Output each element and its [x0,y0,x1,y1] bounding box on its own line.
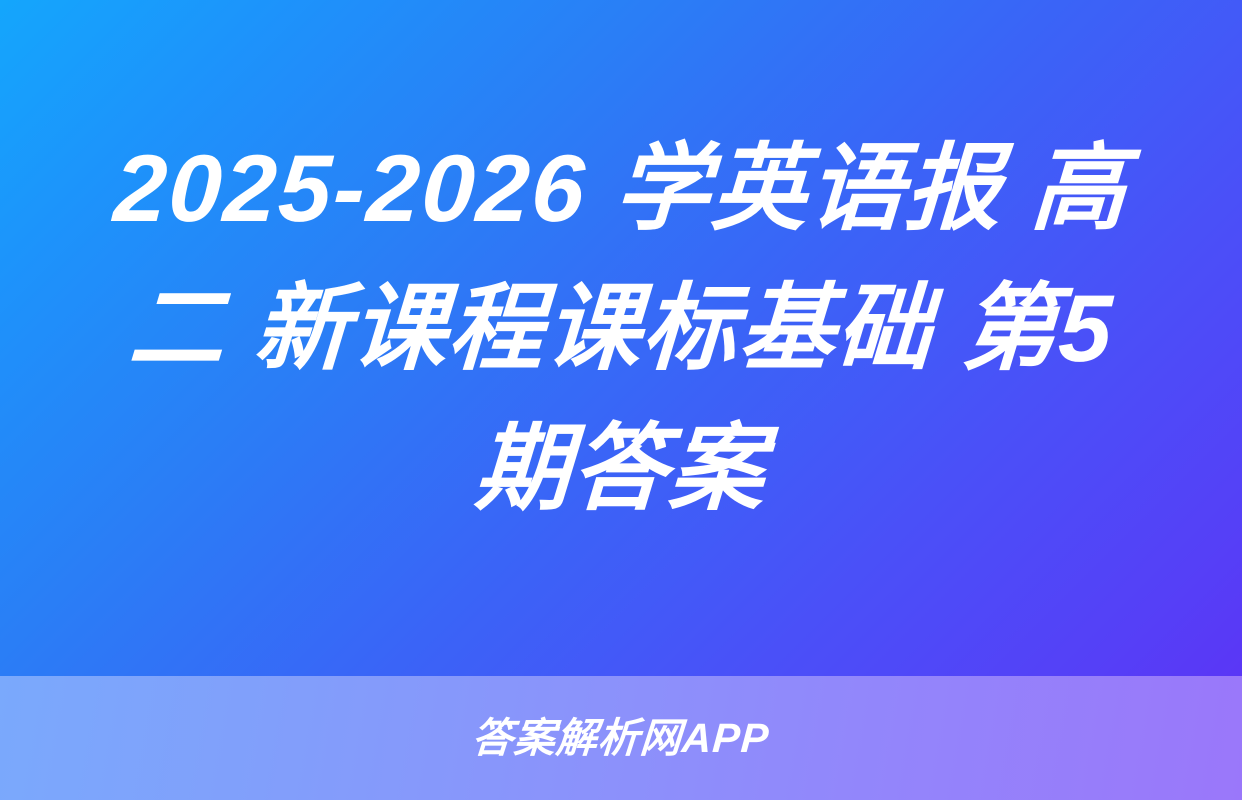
poster-title-line-2: 二 新课程课标基础 第5 [125,259,1117,399]
poster-canvas: 2025-2026 学英语报 高 二 新课程课标基础 第5 期答案 答案解析网A… [0,0,1242,800]
poster-title-line-1: 2025-2026 学英语报 高 [110,119,1131,259]
app-watermark-label: 答案解析网APP [471,718,771,759]
app-watermark-bar: 答案解析网APP [0,676,1242,800]
poster-title-block: 2025-2026 学英语报 高 二 新课程课标基础 第5 期答案 [0,0,1242,676]
poster-title-line-3: 期答案 [472,399,770,539]
